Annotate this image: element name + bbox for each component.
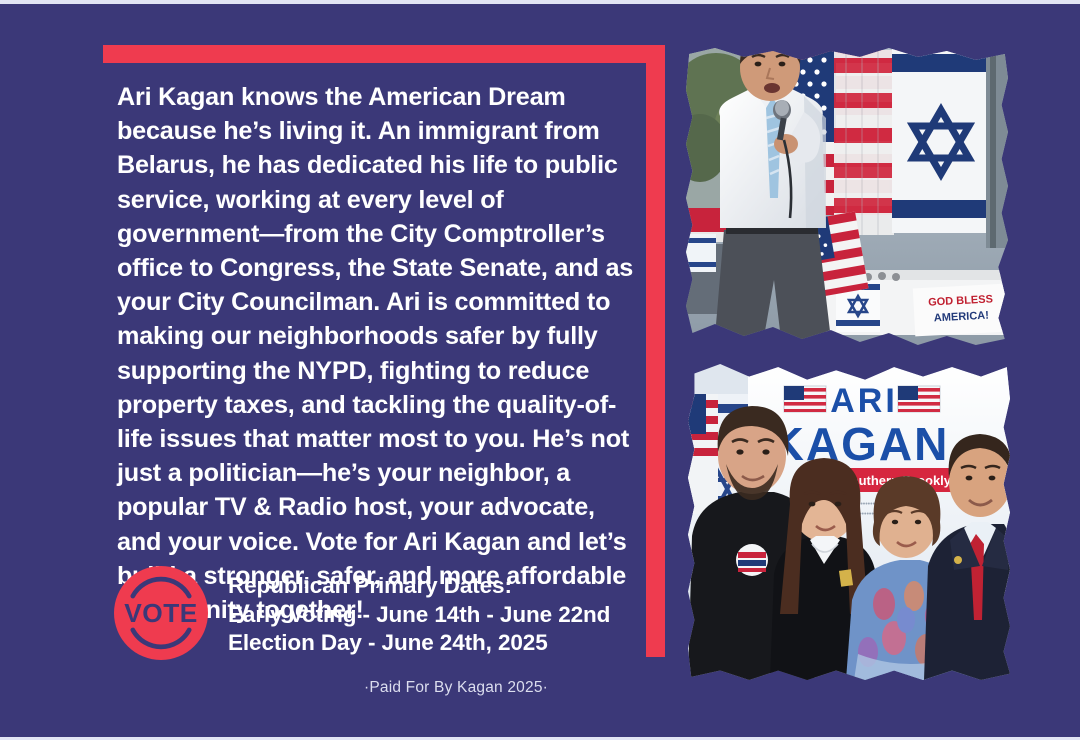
body-copy: Ari Kagan knows the American Dream becau…: [117, 80, 645, 627]
accent-bar-right: [646, 45, 665, 657]
vote-badge-label: VOTE: [124, 598, 198, 628]
banner-first-name: ARI: [830, 382, 898, 420]
banner-last-name: KAGAN: [771, 418, 950, 470]
rally-speech-photo: GOD BLESS AMERICA!: [686, 48, 1008, 348]
vote-badge: VOTE: [114, 566, 208, 660]
primary-dates-text: Republican Primary Dates: Early Voting -…: [228, 566, 610, 658]
accent-bar-top: [103, 45, 665, 63]
top-edge-strip: [0, 0, 1080, 4]
family-campaign-photo: ARI KAGAN for Southern Brooklyn ••••••••…: [688, 364, 1010, 680]
paid-for-text: ·Paid For By Kagan 2025·: [364, 679, 548, 697]
paid-for-disclaimer: ·Paid For By Kagan 2025·: [0, 679, 1080, 697]
campaign-flyer: Ari Kagan knows the American Dream becau…: [0, 0, 1080, 740]
vote-dates-block: VOTE Republican Primary Dates: Early Vot…: [114, 566, 610, 660]
